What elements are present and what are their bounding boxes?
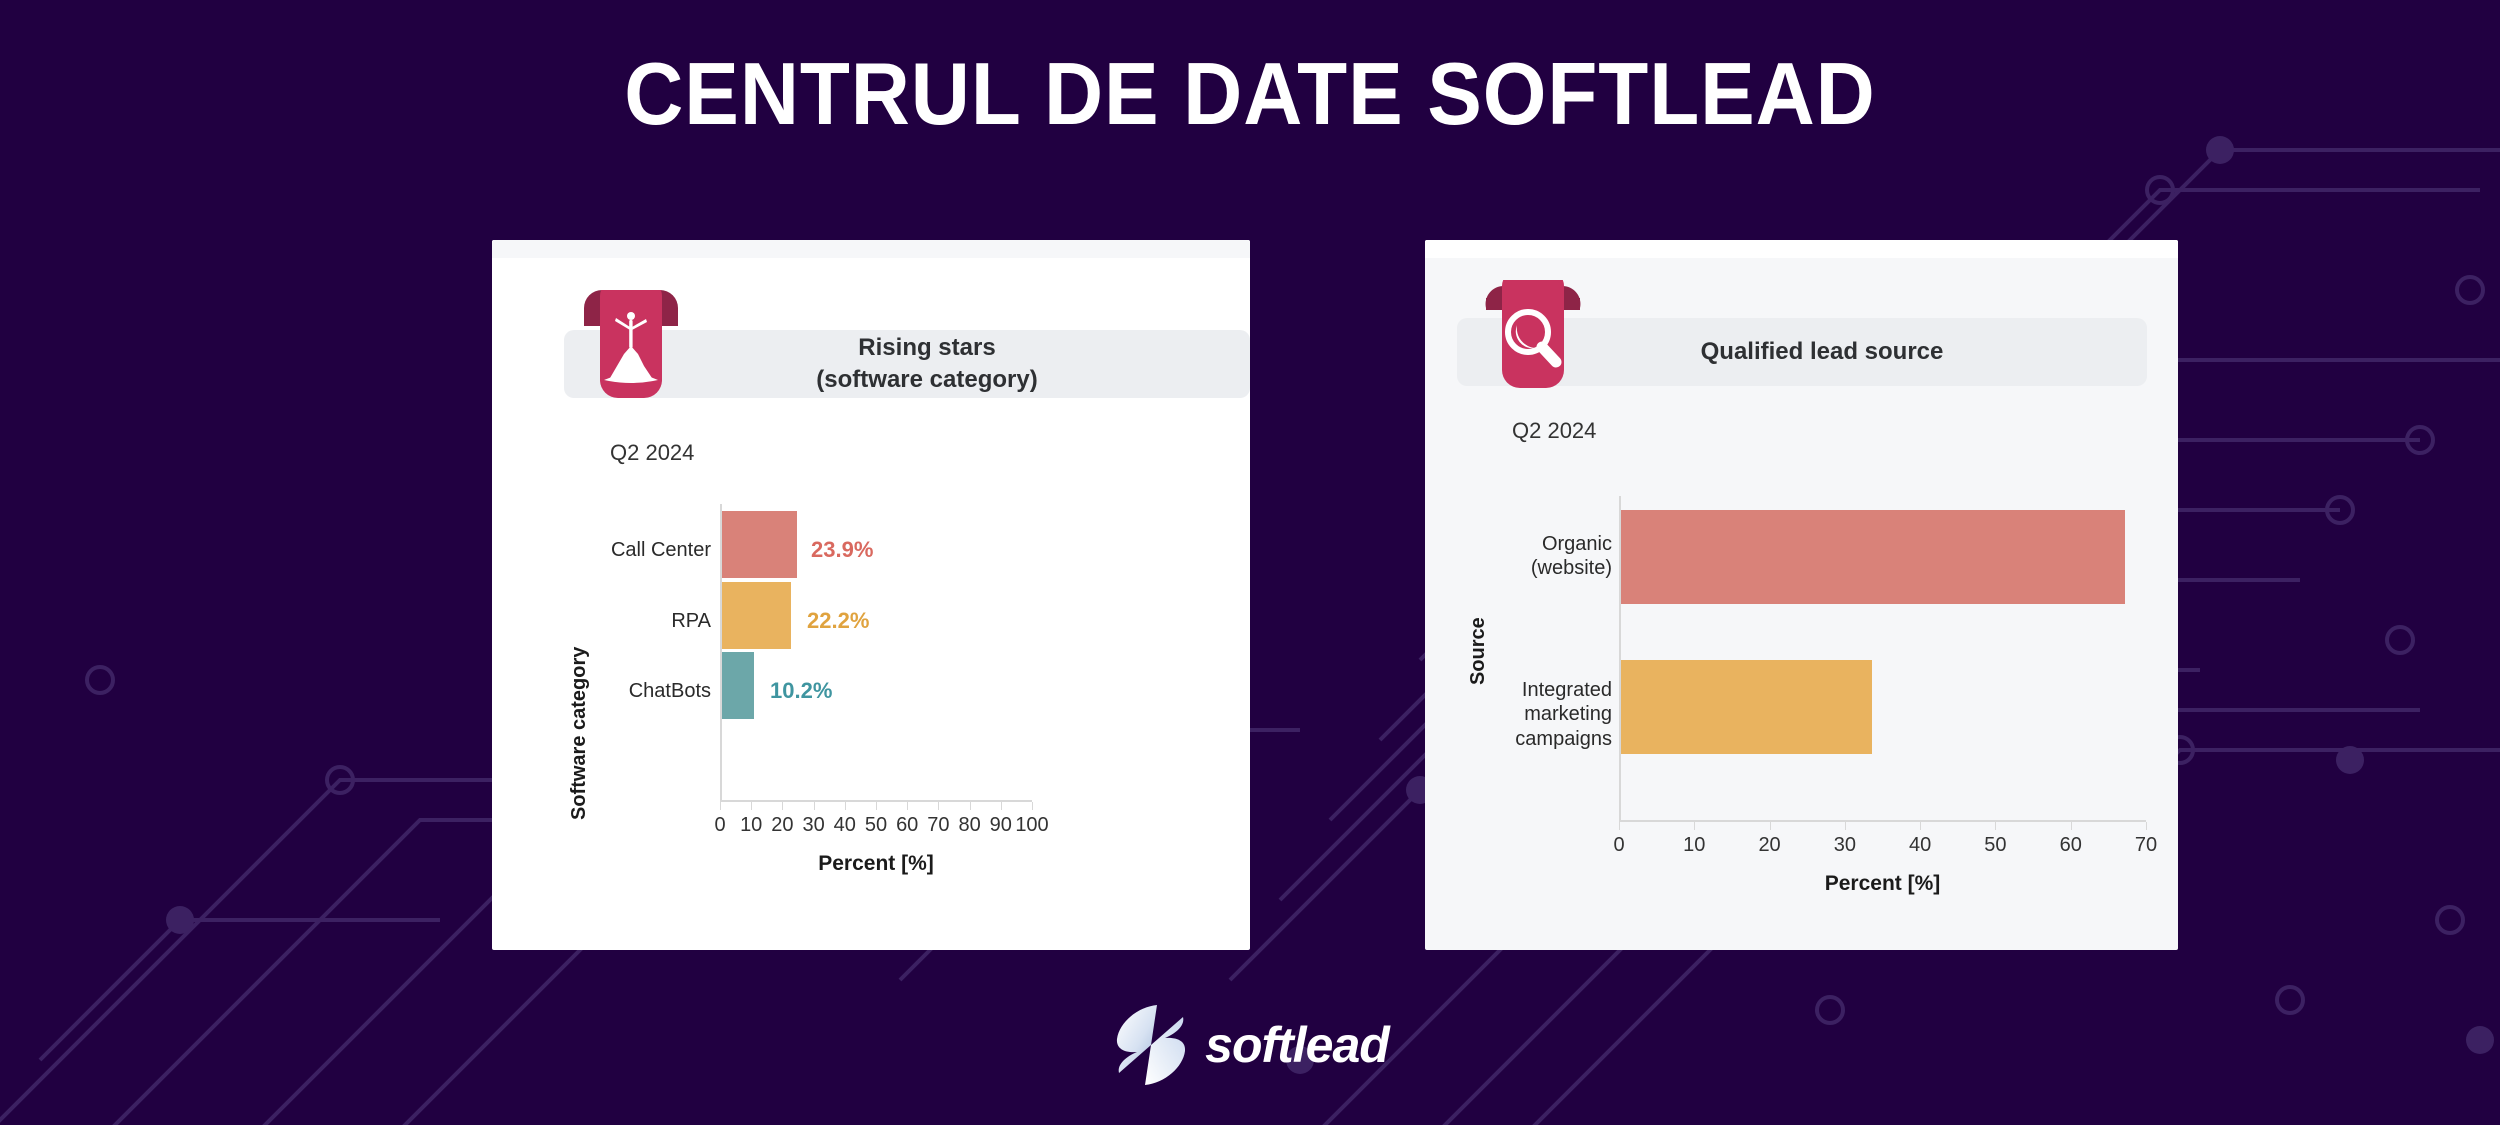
x-tick-label: 30 [802,814,824,837]
category-label-chatbots: ChatBots [556,679,711,703]
x-tick-label: 30 [1834,834,1856,857]
bar-value-rpa: 22.2% [807,608,869,634]
x-tick-label: 50 [1984,834,2006,857]
x-tick-label: 40 [834,814,856,837]
card-period-right: Q2 2024 [1512,418,1596,444]
bar-value-chatbots: 10.2% [770,678,832,704]
x-tick-label: 60 [896,814,918,837]
x-tick-label: 0 [714,814,725,837]
page-title: CENTRUL DE DATE SOFTLEAD [88,46,2413,143]
x-tick-mark [720,802,721,810]
x-tick-label: 100 [1015,814,1048,837]
category-label-call-center: Call Center [556,538,711,562]
x-tick-label: 40 [1909,834,1931,857]
x-tick-label: 20 [771,814,793,837]
x-tick-mark [845,802,846,810]
x-tick-mark [938,802,939,810]
x-tick-mark [2071,822,2072,830]
x-tick-mark [876,802,877,810]
bar-rpa [722,582,791,649]
x-tick-label: 90 [990,814,1012,837]
mountain-climber-icon [578,290,684,402]
softlead-mark-icon [1111,1003,1189,1087]
bar-integrated-marketing [1621,660,1872,754]
category-label-organic: Organic (website) [1457,532,1612,581]
x-tick-mark [782,802,783,810]
category-label-rpa: RPA [556,609,711,633]
x-tick-label: 10 [740,814,762,837]
bar-organic [1621,510,2125,604]
bar-call-center [722,511,797,578]
bar-chatbots [722,652,754,719]
x-tick-label: 50 [865,814,887,837]
x-axis-label-right: Percent [%] [1619,872,2146,896]
x-tick-label: 60 [2060,834,2082,857]
magnifier-icon [1480,280,1586,392]
x-tick-mark [2146,822,2147,830]
card-title-right: Qualified lead source [1661,336,1944,368]
x-tick-label: 20 [1758,834,1780,857]
x-tick-label: 0 [1613,834,1624,857]
chart-rising-stars: Software category Call Center RPA ChatBo… [566,490,1226,910]
x-tick-label: 70 [2135,834,2157,857]
footer-logo: softlead [0,1003,2500,1087]
x-tick-label: 70 [927,814,949,837]
bar-value-call-center: 23.9% [811,537,873,563]
brand-wordmark: softlead [1205,1016,1389,1074]
x-tick-mark [1001,802,1002,810]
x-tick-mark [1770,822,1771,830]
card-period-left: Q2 2024 [610,440,694,466]
x-tick-mark [1995,822,1996,830]
y-axis-label-right: Source [1467,617,1490,685]
x-tick-mark [1845,822,1846,830]
x-tick-label: 80 [958,814,980,837]
x-tick-mark [1920,822,1921,830]
x-tick-mark [751,802,752,810]
card-top-strip [1425,240,2178,258]
x-tick-mark [814,802,815,810]
x-tick-label: 10 [1683,834,1705,857]
x-tick-mark [1619,822,1620,830]
x-tick-mark [970,802,971,810]
chart-qualified-lead-source: Source Organic (website) Integrated mark… [1465,470,2165,900]
card-top-strip [492,240,1250,258]
x-axis-spine-right [1619,820,2146,822]
y-axis-label-left: Software category [568,647,591,820]
card-title-left: Rising stars (software category) [776,332,1037,395]
x-tick-mark [1032,802,1033,810]
x-tick-mark [907,802,908,810]
x-axis-label-left: Percent [%] [720,852,1032,876]
x-tick-mark [1694,822,1695,830]
category-label-integrated-marketing: Integrated marketing campaigns [1457,678,1612,751]
